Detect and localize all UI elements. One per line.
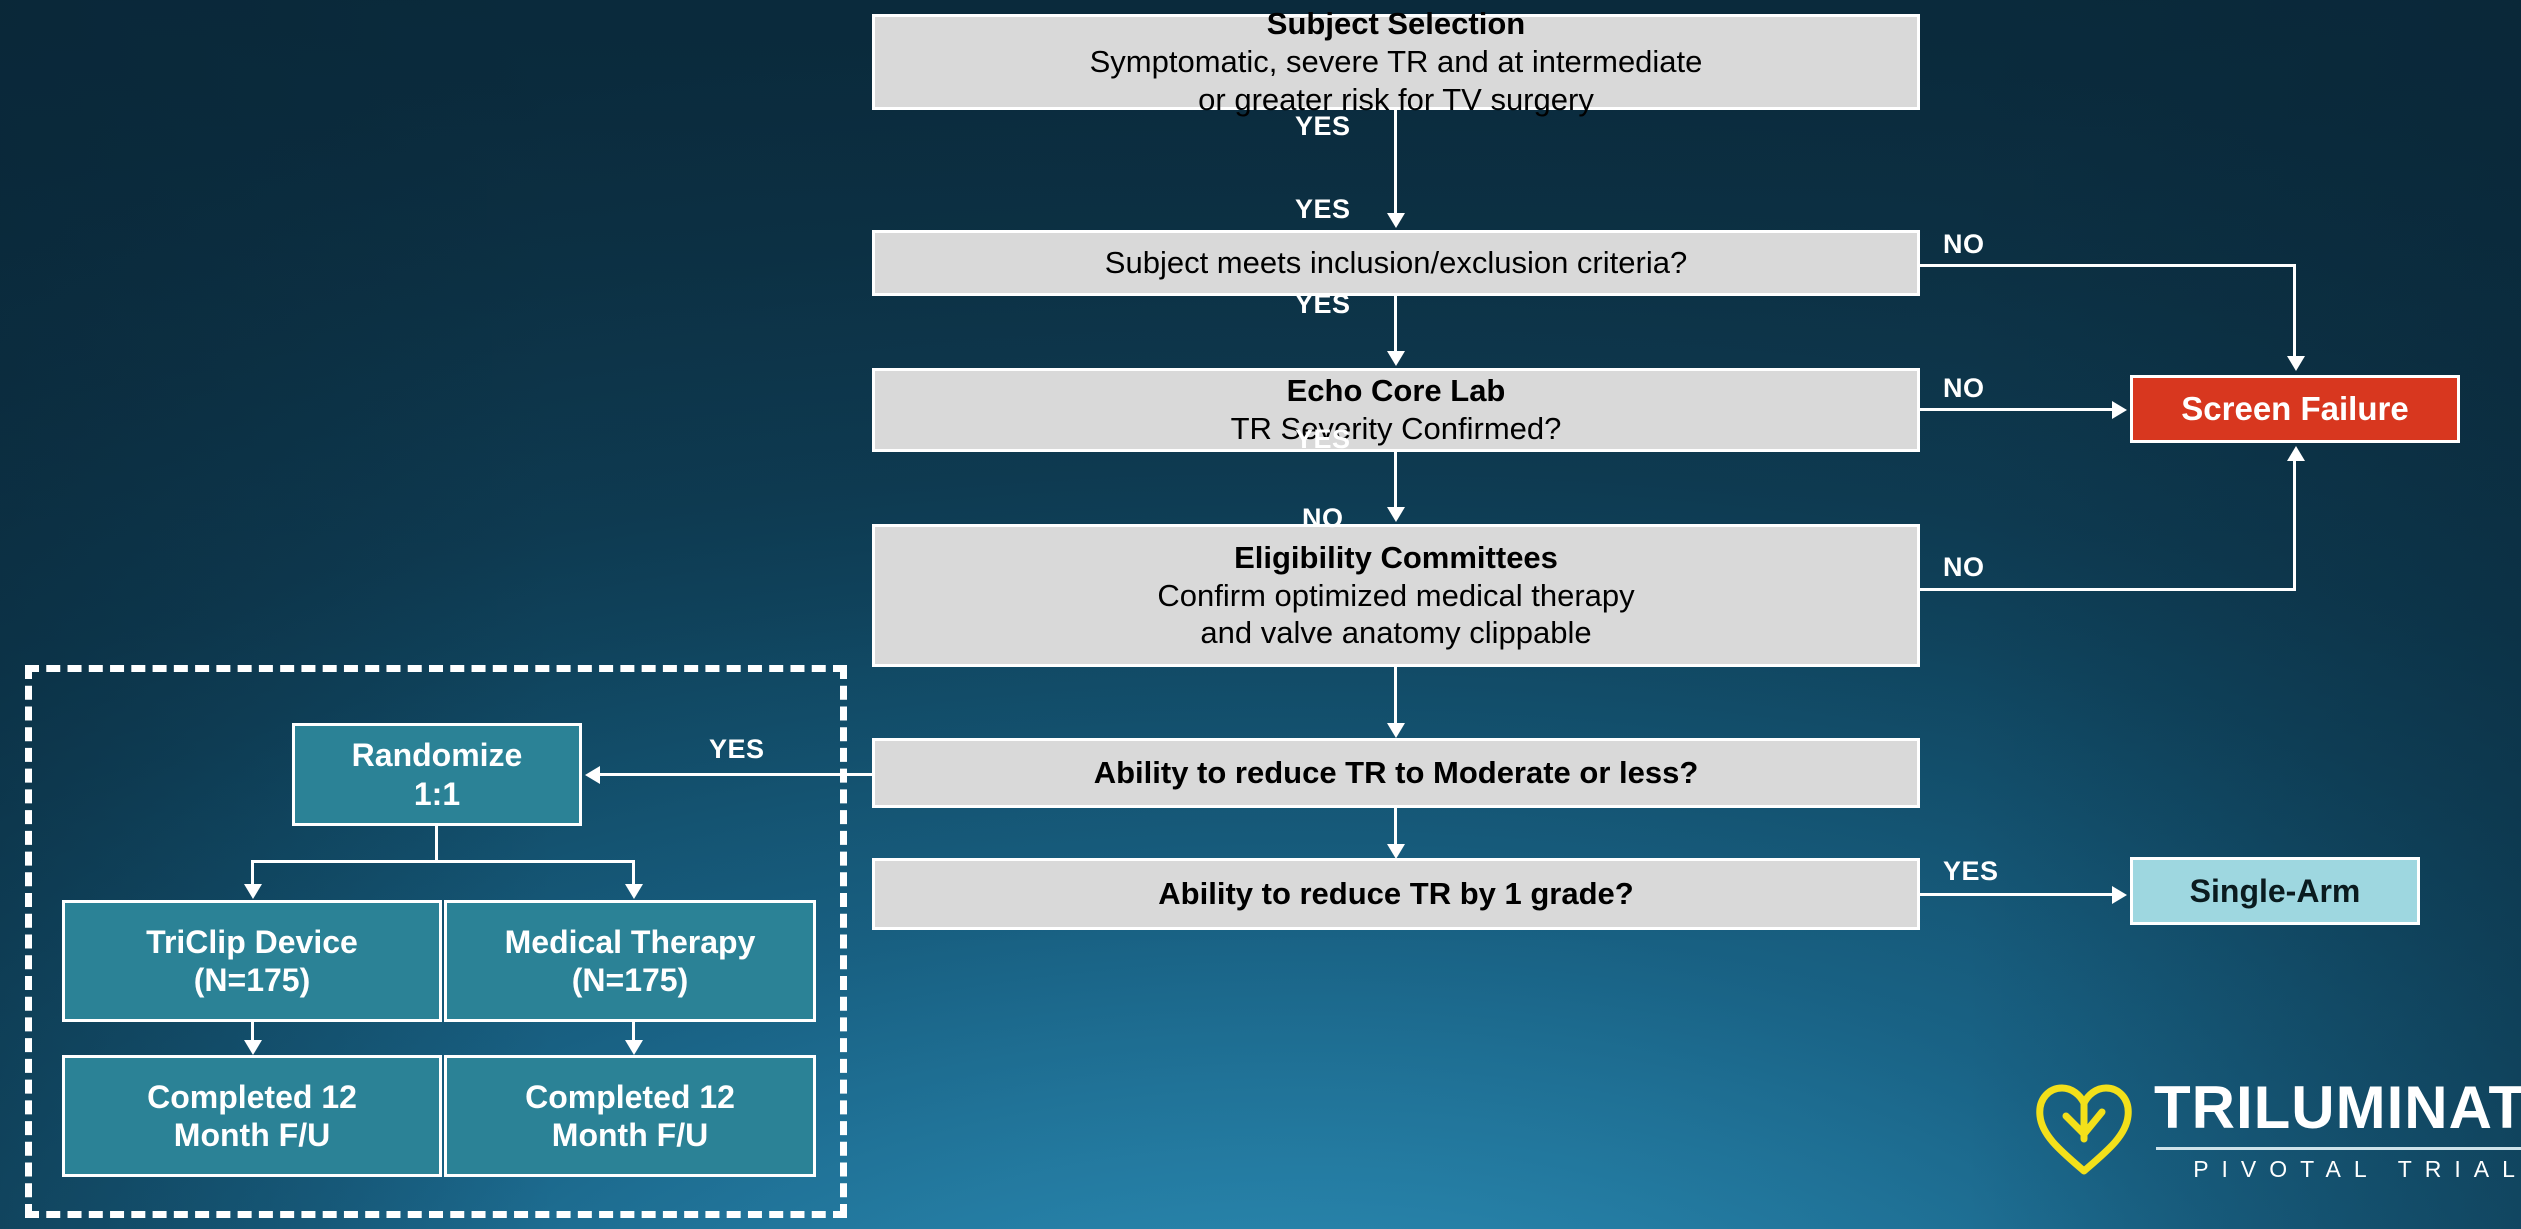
medical-therapy-line2: (N=175) bbox=[447, 961, 813, 999]
arrowhead-echo-no-to-screen-failure bbox=[2112, 401, 2127, 419]
connector-randomize-to-medical bbox=[632, 860, 635, 886]
connector-echo-to-eligibility bbox=[1394, 452, 1397, 509]
edge-label-no-echo: NO bbox=[1943, 373, 1985, 404]
connector-randomize-stem bbox=[435, 826, 438, 862]
connector-reduce-moderate-to-one-grade bbox=[1394, 808, 1397, 846]
logo-tagline: PIVOTAL TRIAL bbox=[2154, 1158, 2521, 1181]
edge-label-no-reduce-moderate-to-one-grade: NO bbox=[1302, 503, 1344, 534]
node-screen-failure[interactable]: Screen Failure bbox=[2130, 375, 2460, 443]
triluminate-logo: TRILUMINATE PIVOTAL TRIAL bbox=[2032, 1078, 2521, 1181]
connector-triclip-to-followup bbox=[251, 1022, 254, 1042]
logo-divider bbox=[2156, 1147, 2521, 1150]
node-randomize[interactable]: Randomize 1:1 bbox=[292, 723, 582, 826]
arrowhead-one-grade-yes-to-single-arm bbox=[2112, 886, 2127, 904]
heart-with-down-arrow-icon bbox=[2032, 1082, 2136, 1178]
arrowhead-inclusion-to-echo bbox=[1387, 351, 1405, 366]
eligibility-committees-title: Eligibility Committees bbox=[875, 539, 1917, 577]
node-reduce-tr-moderate[interactable]: Ability to reduce TR to Moderate or less… bbox=[872, 738, 1920, 808]
eligibility-committees-line2: and valve anatomy clippable bbox=[875, 614, 1917, 652]
echo-core-lab-line1: TR Severity Confirmed? bbox=[875, 410, 1917, 448]
arrowhead-medical-to-followup bbox=[625, 1040, 643, 1055]
arrowhead-inclusion-no-to-screen-failure bbox=[2287, 356, 2305, 371]
node-reduce-tr-one-grade[interactable]: Ability to reduce TR by 1 grade? bbox=[872, 858, 1920, 930]
edge-label-yes-echo-to-eligibility: YES bbox=[1295, 289, 1351, 320]
node-echo-core-lab[interactable]: Echo Core Lab TR Severity Confirmed? bbox=[872, 368, 1920, 452]
arrowhead-eligibility-to-reduce-moderate bbox=[1387, 723, 1405, 738]
medical-followup-line1: Completed 12 bbox=[447, 1078, 813, 1116]
node-medical-therapy[interactable]: Medical Therapy (N=175) bbox=[444, 900, 816, 1022]
edge-label-yes-eligibility-to-reduce-moderate: YES bbox=[1295, 424, 1351, 455]
randomize-line1: Randomize bbox=[295, 736, 579, 774]
node-inclusion-exclusion[interactable]: Subject meets inclusion/exclusion criter… bbox=[872, 230, 1920, 296]
triclip-device-line1: TriClip Device bbox=[65, 923, 439, 961]
arrowhead-selection-to-inclusion bbox=[1387, 213, 1405, 228]
node-triclip-device[interactable]: TriClip Device (N=175) bbox=[62, 900, 442, 1022]
connector-randomize-to-triclip bbox=[251, 860, 254, 886]
connector-inclusion-to-echo bbox=[1394, 296, 1397, 353]
reduce-tr-moderate-text: Ability to reduce TR to Moderate or less… bbox=[875, 754, 1917, 792]
connector-inclusion-no-vertical bbox=[2293, 264, 2296, 358]
triclip-device-line2: (N=175) bbox=[65, 961, 439, 999]
randomize-line2: 1:1 bbox=[295, 775, 579, 813]
reduce-tr-one-grade-text: Ability to reduce TR by 1 grade? bbox=[875, 875, 1917, 913]
medical-therapy-line1: Medical Therapy bbox=[447, 923, 813, 961]
arrowhead-randomize-to-medical bbox=[625, 884, 643, 899]
edge-label-no-eligibility: NO bbox=[1943, 552, 1985, 583]
connector-moderate-yes-horizontal bbox=[600, 773, 872, 776]
subject-selection-line1: Symptomatic, severe TR and at intermedia… bbox=[875, 43, 1917, 81]
eligibility-committees-line1: Confirm optimized medical therapy bbox=[875, 577, 1917, 615]
subject-selection-title: Subject Selection bbox=[875, 5, 1917, 43]
connector-eligibility-no-horizontal bbox=[1920, 588, 2296, 591]
node-eligibility-committees[interactable]: Eligibility Committees Confirm optimized… bbox=[872, 524, 1920, 667]
connector-randomize-split bbox=[251, 860, 635, 863]
connector-selection-to-inclusion bbox=[1394, 110, 1397, 215]
connector-echo-no-horizontal bbox=[1920, 408, 2114, 411]
medical-followup-line2: Month F/U bbox=[447, 1116, 813, 1154]
node-medical-followup[interactable]: Completed 12 Month F/U bbox=[444, 1055, 816, 1177]
edge-label-no-inclusion: NO bbox=[1943, 229, 1985, 260]
inclusion-exclusion-text: Subject meets inclusion/exclusion criter… bbox=[875, 244, 1917, 282]
echo-core-lab-title: Echo Core Lab bbox=[875, 372, 1917, 410]
screen-failure-text: Screen Failure bbox=[2133, 390, 2457, 428]
connector-eligibility-no-vertical bbox=[2293, 460, 2296, 588]
edge-label-yes-one-grade: YES bbox=[1943, 856, 1999, 887]
triclip-followup-line2: Month F/U bbox=[65, 1116, 439, 1154]
triclip-followup-line1: Completed 12 bbox=[65, 1078, 439, 1116]
single-arm-text: Single-Arm bbox=[2133, 873, 2417, 910]
arrowhead-reduce-moderate-to-one-grade bbox=[1387, 844, 1405, 859]
logo-text-block: TRILUMINATE PIVOTAL TRIAL bbox=[2154, 1078, 2521, 1181]
arrowhead-echo-to-eligibility bbox=[1387, 507, 1405, 522]
node-subject-selection[interactable]: Subject Selection Symptomatic, severe TR… bbox=[872, 14, 1920, 110]
arrowhead-randomize-to-triclip bbox=[244, 884, 262, 899]
connector-eligibility-to-reduce-moderate bbox=[1394, 667, 1397, 725]
flowchart-canvas: Subject Selection Symptomatic, severe TR… bbox=[0, 0, 2521, 1229]
edge-label-yes-selection-to-inclusion: YES bbox=[1295, 111, 1351, 142]
edge-label-yes-to-randomize: YES bbox=[709, 734, 765, 765]
arrowhead-triclip-to-followup bbox=[244, 1040, 262, 1055]
connector-inclusion-no-horizontal bbox=[1920, 264, 2296, 267]
node-triclip-followup[interactable]: Completed 12 Month F/U bbox=[62, 1055, 442, 1177]
arrowhead-eligibility-no-to-screen-failure bbox=[2287, 446, 2305, 461]
connector-medical-to-followup bbox=[632, 1022, 635, 1042]
connector-one-grade-yes-horizontal bbox=[1920, 893, 2114, 896]
logo-wordmark: TRILUMINATE bbox=[2154, 1078, 2521, 1138]
edge-label-yes-inclusion-to-echo: YES bbox=[1295, 194, 1351, 225]
node-single-arm[interactable]: Single-Arm bbox=[2130, 857, 2420, 925]
arrowhead-moderate-yes-to-randomize bbox=[585, 766, 600, 784]
